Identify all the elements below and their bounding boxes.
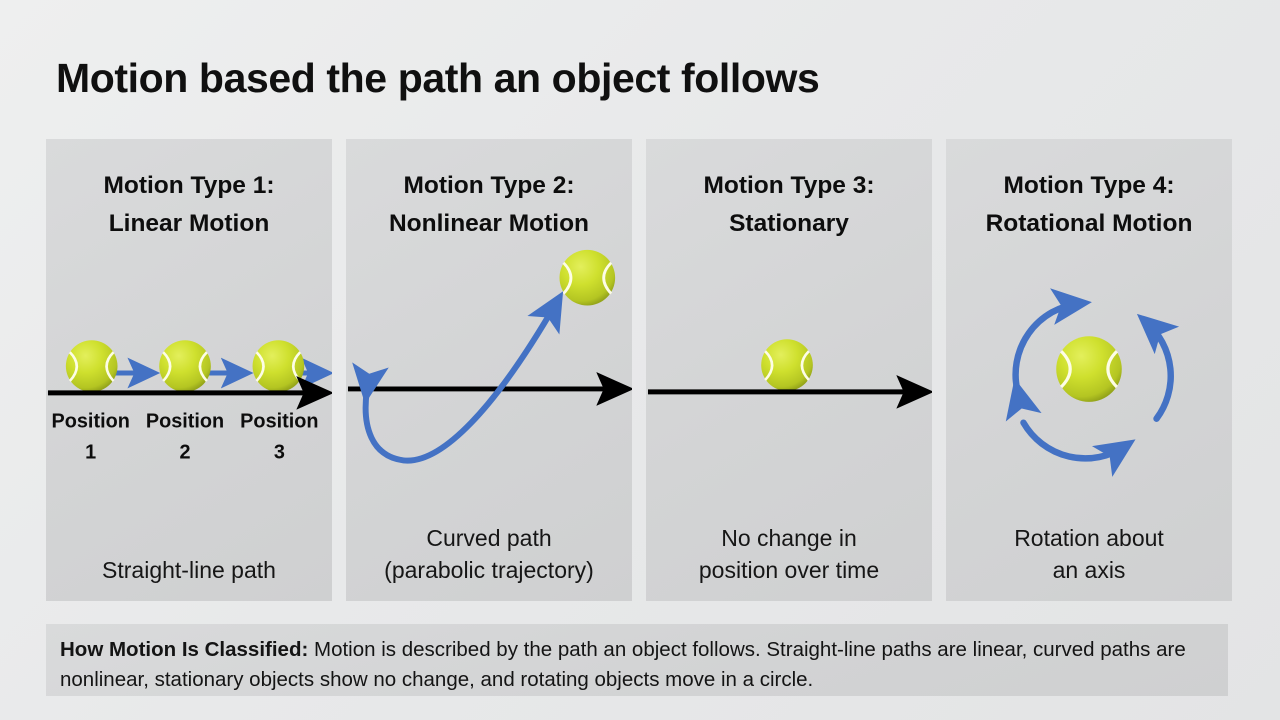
tennis-ball-position-2	[159, 340, 211, 392]
panel-3-caption-line1: No change in	[652, 522, 926, 555]
panel-motion-type-1[interactable]: Motion Type 1: Linear Motion	[46, 139, 332, 601]
motion-type-panels: Motion Type 1: Linear Motion	[46, 139, 1232, 601]
panel-3-heading-line2: Stationary	[646, 205, 932, 243]
position-label-2: Position 2	[146, 411, 224, 464]
position-label-3: Position 3	[240, 411, 318, 464]
parabolic-trajectory-curve	[366, 303, 557, 461]
position-1-number: 1	[85, 441, 96, 463]
panel-3-heading-line1: Motion Type 3:	[646, 167, 932, 205]
panel-1-heading-line1: Motion Type 1:	[46, 167, 332, 205]
panel-3-figure	[646, 239, 932, 519]
panel-4-caption-line1: Rotation about	[952, 522, 1226, 555]
panel-1-heading-line2: Linear Motion	[46, 205, 332, 243]
page-title: Motion based the path an object follows	[56, 55, 819, 102]
panel-4-figure	[946, 239, 1232, 519]
position-2-number: 2	[180, 441, 191, 463]
rotation-arc-bottom	[1023, 423, 1124, 459]
tennis-ball-projectile	[560, 250, 616, 306]
summary-text: How Motion Is Classified: Motion is desc…	[60, 635, 1214, 696]
panel-4-caption-line2: an axis	[952, 554, 1226, 587]
panel-2-caption-line2: (parabolic trajectory)	[352, 554, 626, 587]
panel-4-heading-line2: Rotational Motion	[946, 205, 1232, 243]
tennis-ball-position-3	[253, 340, 305, 392]
panel-2-heading-line1: Motion Type 2:	[346, 167, 632, 205]
summary-bar: How Motion Is Classified: Motion is desc…	[46, 624, 1228, 696]
panel-3-caption-line2: position over time	[652, 554, 926, 587]
position-label-1: Position 1	[52, 411, 130, 464]
position-1-word: Position	[52, 411, 130, 433]
position-2-word: Position	[146, 411, 224, 433]
panel-2-caption: Curved path (parabolic trajectory)	[352, 522, 626, 587]
panel-1-caption-line1: Straight-line path	[52, 554, 326, 587]
tennis-ball-position-1	[66, 340, 118, 392]
panel-3-caption: No change in position over time	[652, 522, 926, 587]
tennis-ball-rotating	[1056, 336, 1122, 402]
panel-1-figure: Position 1 Position 2 Position 3	[46, 239, 332, 519]
panel-4-caption: Rotation about an axis	[952, 522, 1226, 587]
summary-lead: How Motion Is Classified:	[60, 638, 308, 661]
position-3-number: 3	[274, 441, 285, 463]
panel-2-heading: Motion Type 2: Nonlinear Motion	[346, 167, 632, 243]
panel-motion-type-4[interactable]: Motion Type 4: Rotational Motion	[946, 139, 1232, 601]
rotation-arc-right	[1147, 322, 1171, 418]
position-3-word: Position	[240, 411, 318, 433]
panel-4-heading: Motion Type 4: Rotational Motion	[946, 167, 1232, 243]
panel-2-heading-line2: Nonlinear Motion	[346, 205, 632, 243]
panel-3-heading: Motion Type 3: Stationary	[646, 167, 932, 243]
panel-4-heading-line1: Motion Type 4:	[946, 167, 1232, 205]
panel-2-figure	[346, 239, 632, 519]
panel-1-caption: Straight-line path	[52, 554, 326, 587]
panel-motion-type-2[interactable]: Motion Type 2: Nonlinear Motion	[346, 139, 632, 601]
panel-2-caption-line1: Curved path	[352, 522, 626, 555]
panel-1-heading: Motion Type 1: Linear Motion	[46, 167, 332, 243]
slide: Motion based the path an object follows …	[0, 0, 1280, 720]
tennis-ball-stationary	[761, 339, 813, 391]
panel-motion-type-3[interactable]: Motion Type 3: Stationary	[646, 139, 932, 601]
